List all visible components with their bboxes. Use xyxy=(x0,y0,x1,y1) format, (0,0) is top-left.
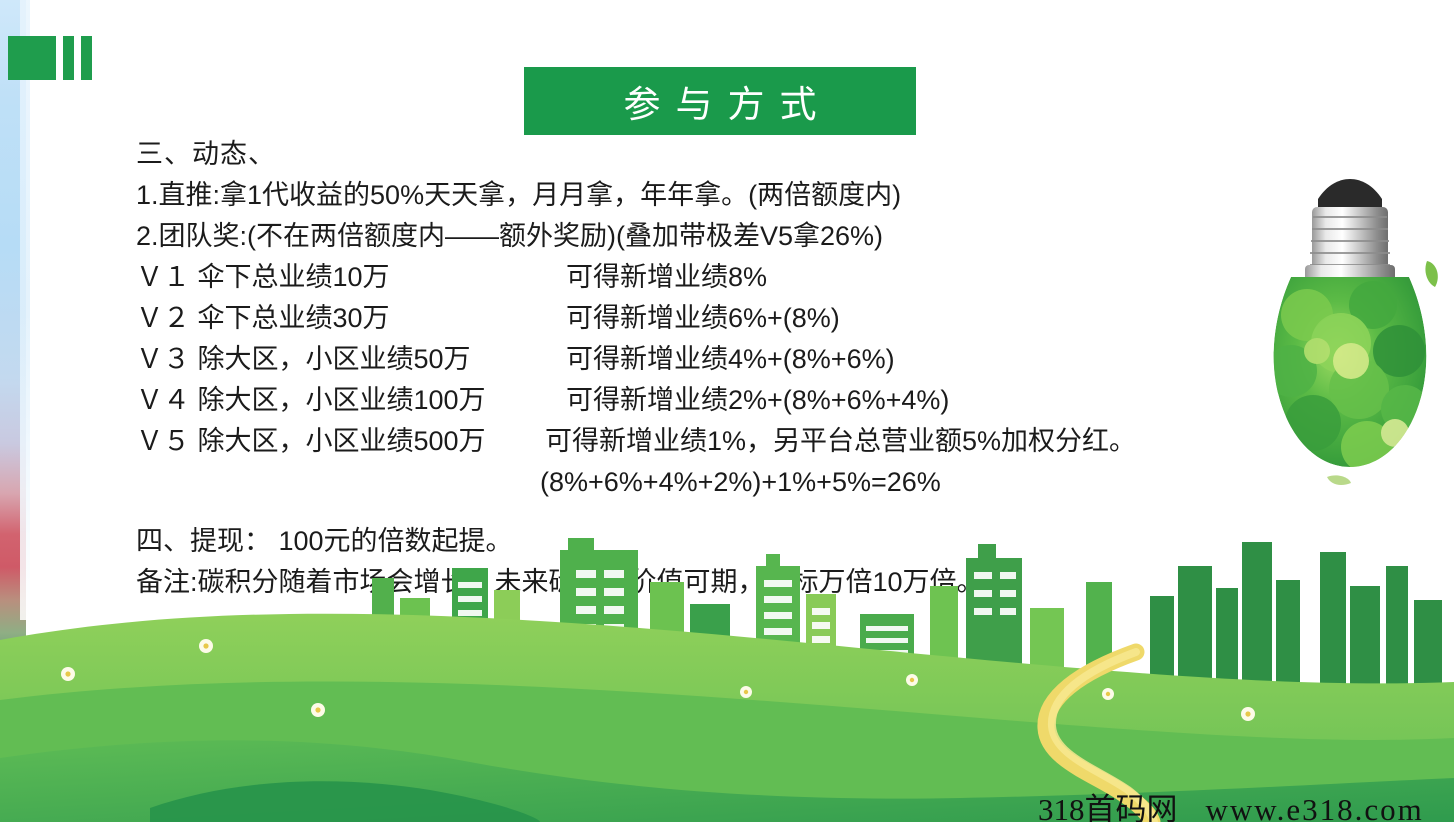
watermark-brand: 318首码网 xyxy=(1038,784,1178,822)
level-name-v5: Ｖ５ 除大区，小区业绩500万 xyxy=(136,421,545,462)
level-name-v3: Ｖ３ 除大区，小区业绩50万 xyxy=(136,339,566,380)
logo-bar-icon-2 xyxy=(81,36,92,80)
level-row-v4: Ｖ４ 除大区，小区业绩100万 可得新增业绩2%+(8%+6%+4%) xyxy=(136,380,1136,421)
logo-block-icon xyxy=(8,36,56,80)
level-row-v2: Ｖ２ 伞下总业绩30万 可得新增业绩6%+(8%) xyxy=(136,298,1136,339)
level-row-v1: Ｖ１ 伞下总业绩10万 可得新增业绩8% xyxy=(136,257,1136,298)
content-item-1: 1.直推:拿1代收益的50%天天拿，月月拿，年年拿。(两倍额度内) xyxy=(136,175,1136,216)
level-name-v1: Ｖ１ 伞下总业绩10万 xyxy=(136,257,566,298)
level-reward-v1: 可得新增业绩8% xyxy=(566,257,1136,298)
title-banner: 参与方式 xyxy=(524,67,916,135)
page-title: 参与方式 xyxy=(609,74,832,128)
content-item-2: 2.团队奖:(不在两倍额度内——额外奖励)(叠加带极差V5拿26%) xyxy=(136,216,1136,257)
slide-canvas: 参与方式 三、动态、 1.直推:拿1代收益的50%天天拿，月月拿，年年拿。(两倍… xyxy=(0,0,1454,822)
level-row-v5: Ｖ５ 除大区，小区业绩500万 可得新增业绩1%，另平台总营业额5%加权分红。 xyxy=(136,421,1136,462)
watermark: 318首码网 www.e318.com xyxy=(1038,784,1424,822)
watermark-site: www.e318.com xyxy=(1206,792,1424,822)
level-reward-v3: 可得新增业绩4%+(8%+6%) xyxy=(566,339,1136,380)
logo-mark xyxy=(8,36,92,80)
landscape-graphic xyxy=(0,522,1454,822)
level-reward-v2: 可得新增业绩6%+(8%) xyxy=(566,298,1136,339)
level-reward-v4: 可得新增业绩2%+(8%+6%+4%) xyxy=(566,380,1136,421)
level-reward-v5: 可得新增业绩1%，另平台总营业额5%加权分红。 xyxy=(545,421,1136,462)
lightbulb-icon xyxy=(1255,165,1445,495)
logo-bar-icon-1 xyxy=(63,36,74,80)
reward-formula: (8%+6%+4%+2%)+1%+5%=26% xyxy=(136,462,1136,503)
landscape-illustration xyxy=(0,522,1454,822)
level-name-v2: Ｖ２ 伞下总业绩30万 xyxy=(136,298,566,339)
level-row-v3: Ｖ３ 除大区，小区业绩50万 可得新增业绩4%+(8%+6%) xyxy=(136,339,1136,380)
content-spacer xyxy=(136,503,1136,521)
section-heading: 三、动态、 xyxy=(136,134,1136,175)
level-name-v4: Ｖ４ 除大区，小区业绩100万 xyxy=(136,380,566,421)
eco-lightbulb-illustration xyxy=(1255,165,1445,495)
